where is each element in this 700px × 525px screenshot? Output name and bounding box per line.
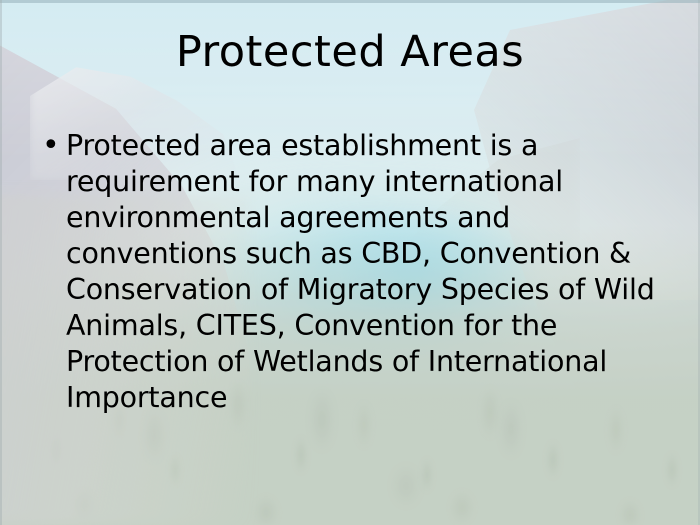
bullet-marker-icon: • xyxy=(40,128,66,164)
presentation-slide: Protected Areas • Protected area establi… xyxy=(0,0,700,525)
bullet-item-text: Protected area establishment is a requir… xyxy=(66,128,660,416)
slide-content: Protected Areas • Protected area establi… xyxy=(0,0,700,525)
bullet-list: • Protected area establishment is a requ… xyxy=(40,128,660,416)
slide-title: Protected Areas xyxy=(0,28,700,76)
